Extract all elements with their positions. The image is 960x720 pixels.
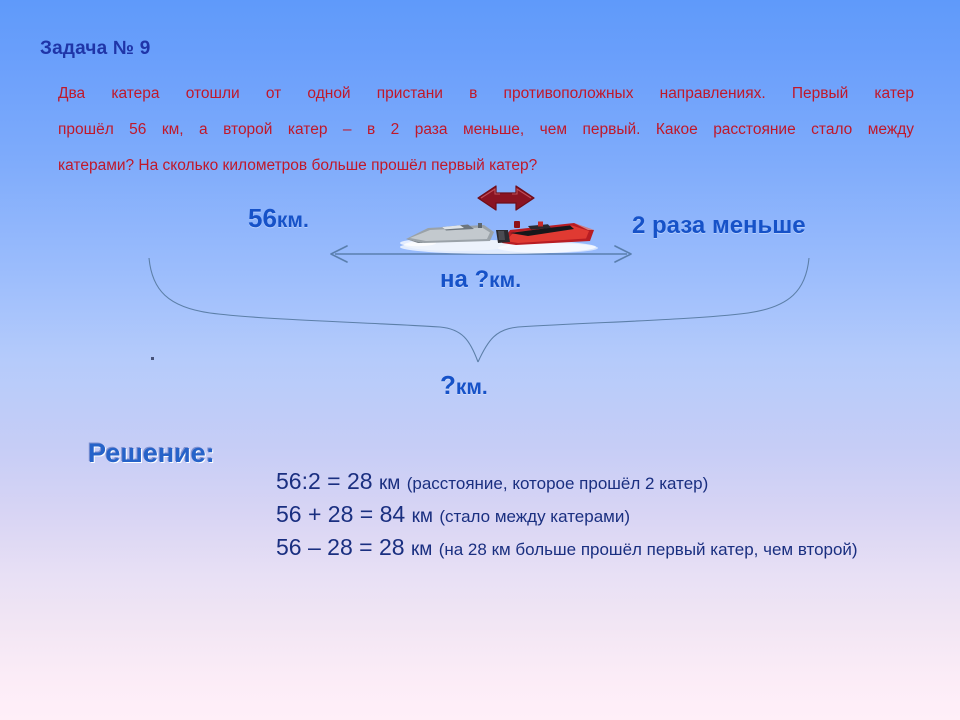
label-total-prefix: ? bbox=[440, 370, 456, 400]
solution-line-3: 56 – 28 = 28 км (на 28 км больше прошёл … bbox=[276, 532, 936, 565]
label-total-unit: км. bbox=[456, 376, 488, 399]
solution-line-2: 56 + 28 = 84 км (стало между катерами) bbox=[276, 499, 936, 532]
solution-note-2: (стало между катерами) bbox=[439, 507, 630, 526]
label-difference-unit: км. bbox=[489, 269, 521, 292]
label-left-distance-value: 56 bbox=[248, 203, 277, 233]
solution-unit-2: км bbox=[412, 506, 433, 527]
solution-expression-2: 56 + 28 = 84 bbox=[276, 501, 405, 527]
solution-unit-1: км bbox=[379, 473, 400, 494]
solution-line-1: 56:2 = 28 км (расстояние, которое прошёл… bbox=[276, 466, 936, 499]
slide-canvas: Задача № 9 Два катера отошли от одной пр… bbox=[0, 0, 960, 720]
label-difference: на ?км. bbox=[440, 266, 521, 294]
solution-lines: 56:2 = 28 км (расстояние, которое прошёл… bbox=[276, 466, 936, 565]
label-total: ?км. bbox=[440, 370, 488, 401]
solution-expression-1: 56:2 = 28 bbox=[276, 468, 373, 494]
solution-expression-3: 56 – 28 = 28 bbox=[276, 534, 405, 560]
stray-dot-artifact bbox=[151, 357, 154, 360]
problem-line-1: Два катера отошли от одной пристани в пр… bbox=[58, 76, 914, 112]
label-left-distance: 56км. bbox=[248, 203, 309, 234]
solution-unit-3: км bbox=[411, 539, 432, 560]
solution-note-1: (расстояние, которое прошёл 2 катер) bbox=[407, 474, 709, 493]
label-right-distance: 2 раза меньше bbox=[632, 212, 806, 240]
page-title: Задача № 9 bbox=[40, 38, 151, 60]
problem-statement: Два катера отошли от одной пристани в пр… bbox=[58, 76, 914, 184]
label-difference-prefix: на ? bbox=[440, 266, 489, 293]
solution-note-3: (на 28 км больше прошёл первый катер, че… bbox=[439, 540, 858, 559]
label-left-distance-unit: км. bbox=[277, 209, 309, 232]
problem-line-2: прошёл 56 км, а второй катер – в 2 раза … bbox=[58, 112, 914, 148]
solution-heading: Решение: bbox=[88, 438, 215, 469]
